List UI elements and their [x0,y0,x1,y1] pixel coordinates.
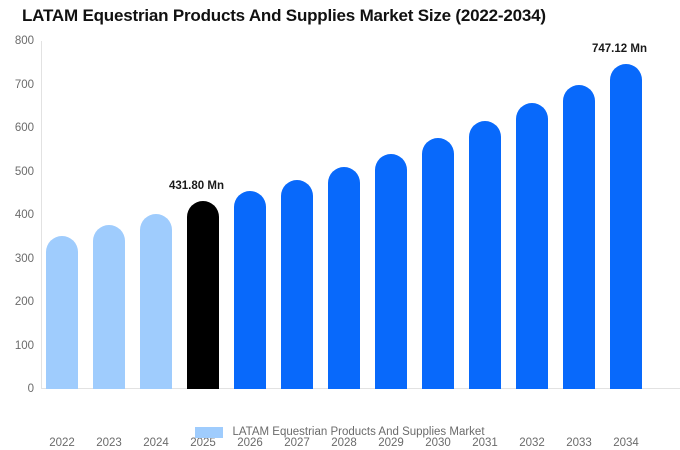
x-axis-tick: 2026 [228,437,272,449]
legend-item[interactable]: LATAM Equestrian Products And Supplies M… [195,426,484,438]
bar-2023[interactable] [93,225,125,389]
x-axis-tick: 2023 [87,437,131,449]
y-axis-tick: 200 [15,296,34,308]
value-label-2034: 747.12 Mn [592,43,647,55]
x-axis-tick: 2024 [134,437,178,449]
chart-container: LATAM Equestrian Products And Supplies M… [0,0,680,450]
bar-2030[interactable] [422,138,454,389]
x-axis-tick: 2033 [557,437,601,449]
bar-2033[interactable] [563,85,595,389]
x-axis-tick: 2028 [322,437,366,449]
x-axis-tick: 2025 [181,437,225,449]
bar-2032[interactable] [516,103,548,389]
y-axis-tick: 100 [15,340,34,352]
bar-2025[interactable] [187,201,219,389]
legend-color-swatch [195,427,223,438]
legend-label: LATAM Equestrian Products And Supplies M… [232,426,484,438]
bar-series [41,41,680,389]
x-axis-tick: 2027 [275,437,319,449]
chart-title: LATAM Equestrian Products And Supplies M… [22,6,546,26]
y-axis-tick: 400 [15,209,34,221]
bar-2028[interactable] [328,167,360,389]
y-axis-tick: 600 [15,122,34,134]
x-axis-tick: 2030 [416,437,460,449]
y-axis-tick: 300 [15,253,34,265]
bar-2034[interactable] [610,64,642,389]
y-axis-tick: 0 [28,383,34,395]
bar-2026[interactable] [234,191,266,389]
x-axis-tick: 2032 [510,437,554,449]
y-axis-tick: 800 [15,35,34,47]
x-axis-tick: 2022 [40,437,84,449]
bar-2027[interactable] [281,180,313,389]
bar-2029[interactable] [375,154,407,389]
y-axis-tick: 500 [15,166,34,178]
bar-2024[interactable] [140,214,172,389]
x-axis-tick: 2031 [463,437,507,449]
y-axis-tick: 700 [15,79,34,91]
bar-2022[interactable] [46,236,78,389]
chart-legend: LATAM Equestrian Products And Supplies M… [0,426,680,438]
x-axis-tick: 2029 [369,437,413,449]
bar-2031[interactable] [469,121,501,389]
value-label-2025: 431.80 Mn [169,180,224,192]
x-axis-tick: 2034 [604,437,648,449]
plot-area: 0100200300400500600700800 431.80 Mn747.1… [41,41,680,389]
